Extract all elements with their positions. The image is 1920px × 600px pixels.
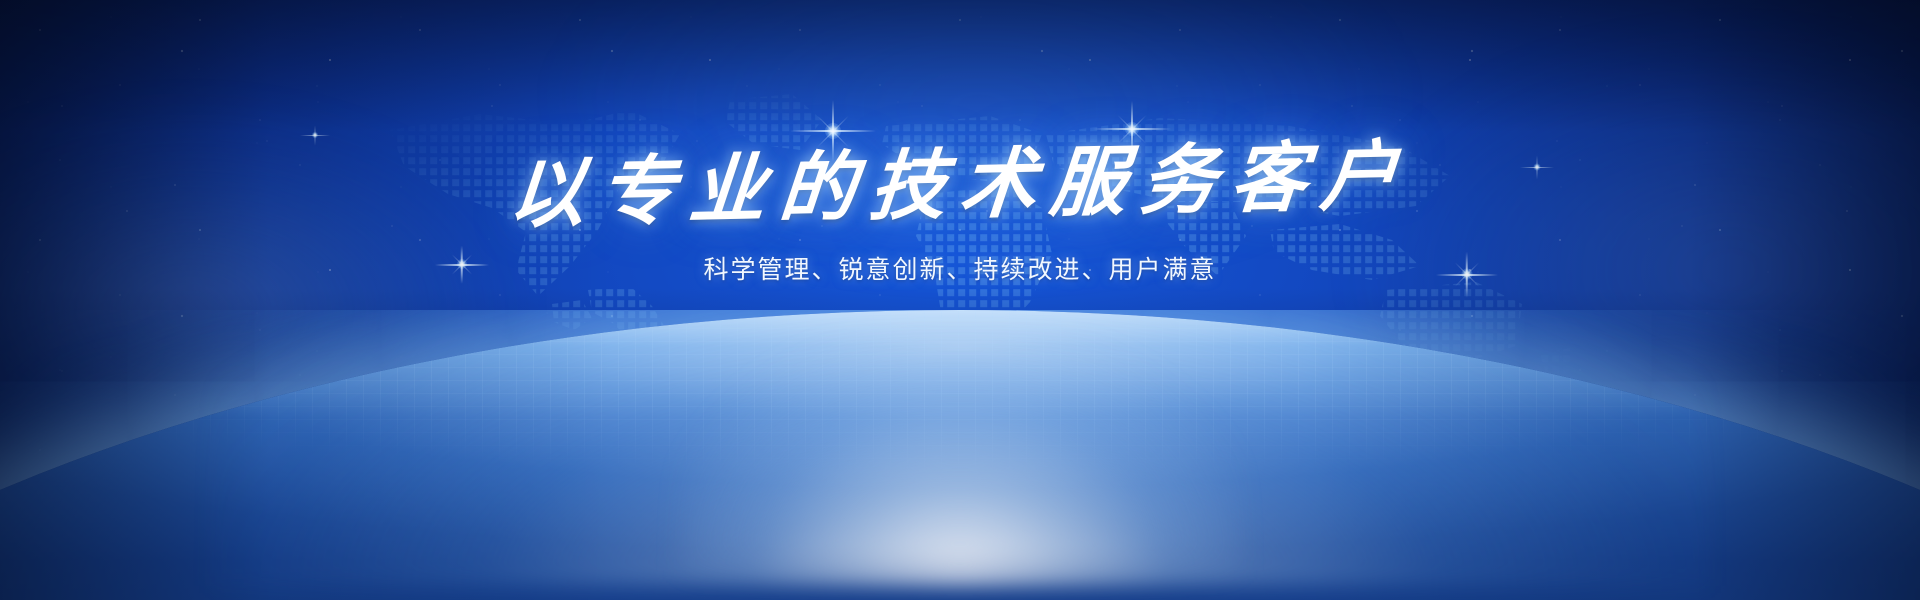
- hero-banner: 以专业的技术服务客户 科学管理、锐意创新、持续改进、用户满意: [0, 0, 1920, 600]
- edge-vignette: [0, 0, 1920, 600]
- flare-ray-d1-icon: [817, 116, 849, 148]
- starfield-fade-overlay: [0, 0, 1920, 600]
- flare-ray-d2-icon: [817, 116, 849, 148]
- flare-ray-h-icon: [300, 135, 330, 136]
- flare-core-icon: [312, 132, 318, 138]
- sparkle-flare-small-left: [300, 120, 330, 150]
- flare-ray-h-icon: [1093, 128, 1171, 130]
- banner-headline: 以专业的技术服务客户: [0, 128, 1920, 244]
- starfield-icon: [0, 0, 1920, 600]
- earth-atmosphere-glow: [210, 310, 1710, 586]
- earth-surface: [0, 310, 1920, 600]
- flare-ray-v-icon: [315, 126, 316, 146]
- earth-grid-overlay: [0, 310, 1920, 600]
- flare-core-icon: [1125, 122, 1139, 136]
- banner-copy: 以专业的技术服务客户 科学管理、锐意创新、持续改进、用户满意: [0, 148, 1920, 283]
- starfield-secondary-icon: [0, 0, 1920, 600]
- earth-horizon-icon: [0, 310, 1920, 600]
- flare-core-icon: [825, 123, 841, 139]
- banner-subheadline: 科学管理、锐意创新、持续改进、用户满意: [0, 258, 1920, 283]
- earth-center-light-beam: [680, 340, 1240, 570]
- flare-ray-h-icon: [790, 130, 876, 132]
- starfield-faint-icon: [0, 0, 1920, 600]
